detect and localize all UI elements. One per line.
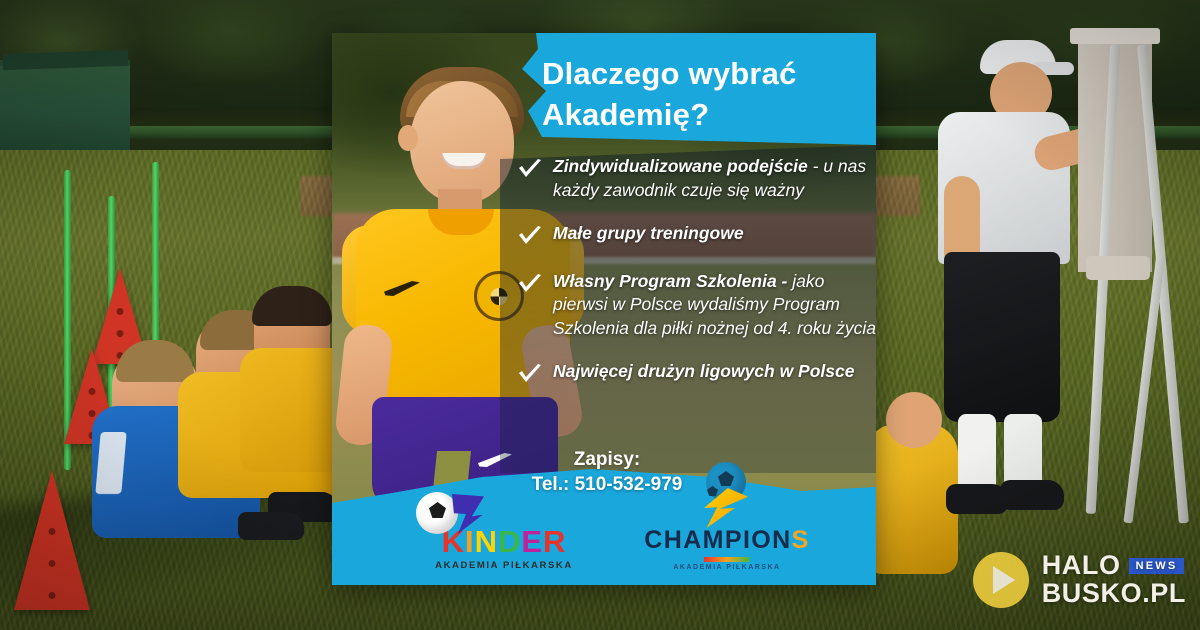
kinder-logo-mark	[414, 492, 490, 538]
champions-logo-wordmark: CHAMPIONS	[632, 528, 822, 553]
coach-shoe	[1000, 480, 1064, 510]
list-item-bold: Małe grupy treningowe	[553, 223, 744, 243]
check-icon	[518, 274, 542, 296]
coach-shoe	[946, 484, 1008, 514]
champions-name: CHAMPION	[644, 526, 791, 554]
kinder-letter: R	[543, 524, 566, 559]
bottom-wave-foot	[332, 577, 876, 585]
check-icon	[518, 159, 542, 181]
seated-child-shoe	[238, 512, 304, 540]
boy-ear	[398, 125, 418, 151]
list-item: Własny Program Szkolenia - jako pierwsi …	[518, 270, 876, 341]
list-item-text: Małe grupy treningowe	[553, 222, 744, 246]
boy-head	[410, 81, 514, 203]
list-item-bold: Najwięcej drużyn ligowych w Polsce	[553, 361, 854, 381]
list-item-text: Zindywidualizowane podejście - u nas każ…	[553, 155, 876, 203]
play-icon[interactable]	[973, 552, 1029, 608]
watermark-line-2: BUSKO.PL	[1042, 580, 1186, 608]
champions-logo[interactable]: CHAMPIONS AKADEMIA PIŁKARSKA	[632, 528, 822, 571]
champions-logo-bar	[704, 557, 750, 562]
poster-card: Dlaczego wybrać Akademię? Zindywidualizo…	[332, 33, 876, 585]
coach-sock	[1004, 414, 1042, 488]
kinder-logo[interactable]: KINDER AKADEMIA PIŁKARSKA	[404, 526, 604, 571]
list-item-text: Własny Program Szkolenia - jako pierwsi …	[553, 270, 876, 341]
list-item: Zindywidualizowane podejście - u nas każ…	[518, 155, 876, 203]
check-icon	[518, 226, 542, 248]
kinder-logo-subtitle: AKADEMIA PIŁKARSKA	[404, 560, 604, 571]
watermark-line-1: HALO	[1042, 552, 1121, 580]
benefits-list: Zindywidualizowane podejście - u nas każ…	[518, 155, 876, 405]
watermark-row-1: HALO NEWS	[1042, 552, 1186, 580]
news-badge: NEWS	[1129, 558, 1185, 574]
background-child-right-head	[886, 392, 942, 448]
champions-name-accent: S	[792, 526, 810, 554]
watermark-text: HALO NEWS BUSKO.PL	[1042, 552, 1186, 607]
kinder-letter: E	[521, 524, 543, 559]
coach-shorts	[944, 252, 1060, 422]
seated-child-number	[95, 432, 126, 494]
champions-logo-subtitle: AKADEMIA PIŁKARSKA	[632, 564, 822, 571]
list-item-bold: Zindywidualizowane podejście	[553, 156, 808, 176]
list-item-bold: Własny Program Szkolenia -	[553, 271, 787, 291]
champions-logo-mark	[690, 462, 762, 526]
headline-line-1: Dlaczego wybrać	[542, 53, 862, 94]
headline-line-2: Akademię?	[542, 94, 862, 135]
list-item-text: Najwięcej drużyn ligowych w Polsce	[553, 360, 854, 384]
kinder-letter: D	[498, 524, 521, 559]
list-item: Najwięcej drużyn ligowych w Polsce	[518, 360, 876, 386]
flipchart-clamp	[1086, 256, 1150, 280]
page-title: Dlaczego wybrać Akademię?	[542, 53, 862, 135]
coach-sock	[958, 414, 996, 492]
site-watermark[interactable]: HALO NEWS BUSKO.PL	[973, 552, 1186, 608]
list-item: Małe grupy treningowe	[518, 222, 876, 248]
soccer-ball-icon	[416, 492, 458, 534]
check-icon	[518, 364, 542, 386]
flipchart-board-top	[1070, 28, 1160, 44]
